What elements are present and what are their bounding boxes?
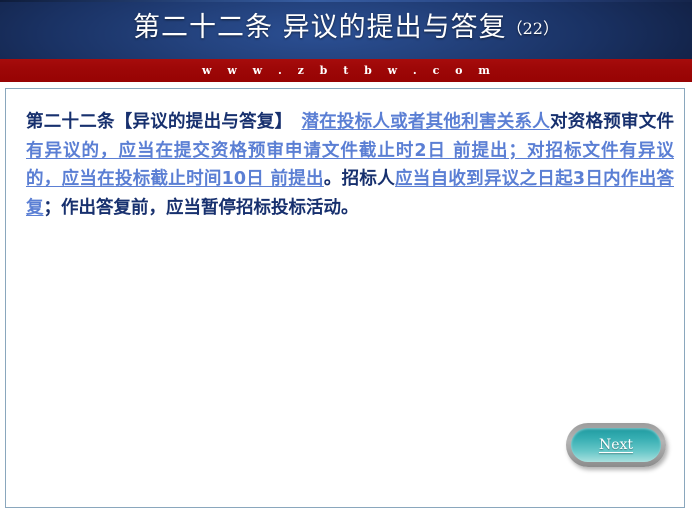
slide-title-suffix: （22） <box>507 19 559 38</box>
next-button[interactable]: Next <box>566 423 666 467</box>
website-ribbon: w w w . z b t b w . c o m <box>0 59 692 82</box>
slide-header-band: 第二十二条 异议的提出与答复（22） <box>0 0 692 59</box>
slide-title-main: 第二十二条 异议的提出与答复 <box>133 12 507 43</box>
website-url-text: w w w . z b t b w . c o m <box>0 59 692 82</box>
article-text-prequalification: 对资格预审文件 <box>550 112 674 132</box>
slide-title: 第二十二条 异议的提出与答复（22） <box>0 3 692 54</box>
article-text-suspension: ；作出答复前，应当暂停招标投标活动。 <box>44 198 359 218</box>
article-clause-heading: 第二十二条【异议的提出与答复】 <box>26 112 301 132</box>
article-body-text: 第二十二条【异议的提出与答复】 潜在投标人或者其他利害关系人对资格预审文件有异议… <box>26 108 674 222</box>
slide-canvas: 第二十二条 异议的提出与答复（22） w w w . z b t b w . c… <box>0 0 692 520</box>
article-text-tenderee: 。招标人 <box>324 169 395 189</box>
article-link-bidders[interactable]: 潜在投标人或者其他利害关系人 <box>301 112 550 132</box>
next-button-face[interactable]: Next <box>571 428 661 462</box>
next-button-label: Next <box>599 437 633 453</box>
